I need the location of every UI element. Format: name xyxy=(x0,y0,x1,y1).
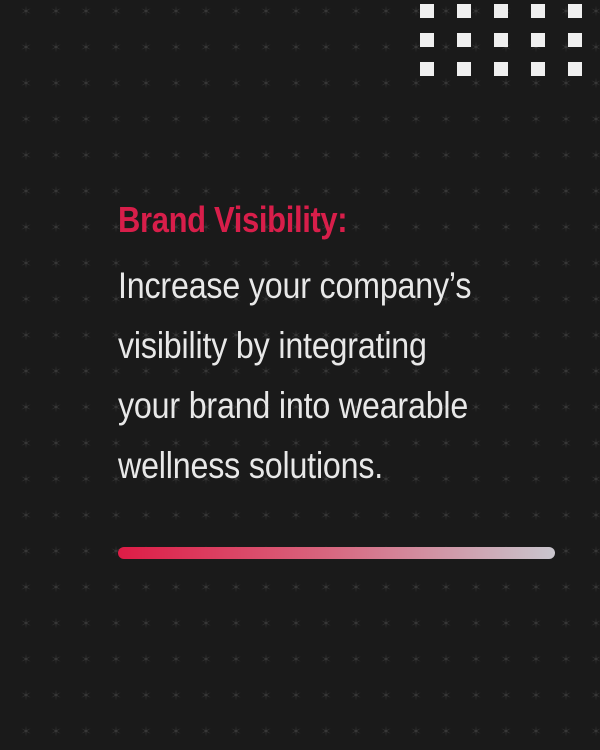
grid-square xyxy=(457,62,471,76)
grid-square xyxy=(420,33,434,47)
square-grid-decoration xyxy=(420,4,582,76)
grid-square xyxy=(457,4,471,18)
grid-square xyxy=(531,33,545,47)
grid-square xyxy=(420,62,434,76)
grid-square xyxy=(494,33,508,47)
text-block: Brand Visibility: Increase your company’… xyxy=(118,198,558,496)
accent-gradient-bar xyxy=(118,547,555,559)
page-title: Brand Visibility: xyxy=(118,198,496,242)
grid-square xyxy=(420,4,434,18)
grid-square xyxy=(568,62,582,76)
promo-card: Brand Visibility: Increase your company’… xyxy=(0,0,600,750)
grid-square xyxy=(457,33,471,47)
body-copy: Increase your company’svisibility by int… xyxy=(118,256,501,496)
grid-square xyxy=(568,33,582,47)
grid-square xyxy=(531,62,545,76)
body-copy-line: Increase your company’s xyxy=(118,256,501,316)
body-copy-line: wellness solutions. xyxy=(118,436,501,496)
grid-square xyxy=(531,4,545,18)
grid-square xyxy=(494,4,508,18)
body-copy-line: your brand into wearable xyxy=(118,376,501,436)
grid-square xyxy=(494,62,508,76)
grid-square xyxy=(568,4,582,18)
body-copy-line: visibility by integrating xyxy=(118,316,501,376)
